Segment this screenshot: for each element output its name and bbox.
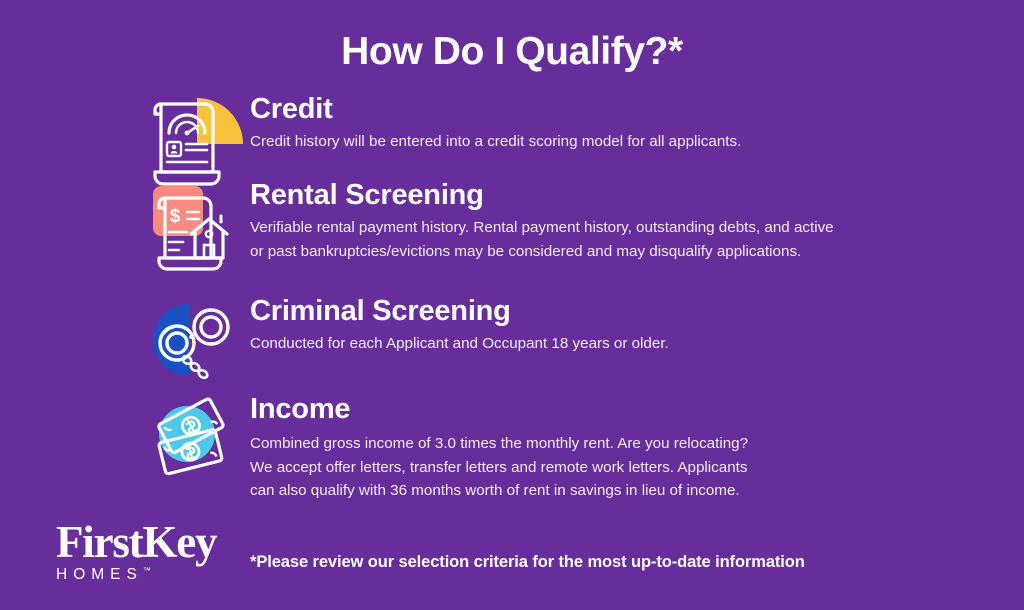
criteria-heading: Criminal Screening bbox=[245, 296, 1024, 326]
criteria-item-rental-screening: $ Rental Screening Verifiable bbox=[145, 178, 1024, 274]
logo-wordmark: FirstKey bbox=[56, 520, 256, 564]
criteria-body: Verifiable rental payment history. Renta… bbox=[245, 216, 892, 263]
footnote-text: *Please review our selection criteria fo… bbox=[250, 553, 805, 572]
criteria-body: Combined gross income of 3.0 times the m… bbox=[245, 432, 810, 503]
criteria-item-income: Income Combined gross income of 3.0 time… bbox=[145, 392, 1024, 512]
logo-subtitle: HOMES™ bbox=[56, 566, 256, 584]
criteria-text: Criminal Screening Conducted for each Ap… bbox=[245, 294, 1024, 356]
credit-report-icon bbox=[145, 92, 245, 188]
body-line: We accept offer letters, transfer letter… bbox=[250, 456, 810, 480]
criteria-item-credit: Credit Credit history will be entered in… bbox=[145, 92, 1024, 188]
page-title: How Do I Qualify?* bbox=[0, 30, 1024, 74]
criteria-text: Credit Credit history will be entered in… bbox=[245, 92, 1024, 154]
criteria-body: Credit history will be entered into a cr… bbox=[245, 130, 890, 154]
handcuffs-icon bbox=[145, 294, 245, 390]
qualification-infographic: How Do I Qualify?* bbox=[0, 0, 1024, 610]
criteria-heading: Income bbox=[245, 394, 1024, 424]
rental-receipt-house-icon: $ bbox=[145, 178, 245, 274]
body-line: Combined gross income of 3.0 times the m… bbox=[250, 432, 810, 456]
firstkey-homes-logo: FirstKey HOMES™ bbox=[56, 520, 256, 584]
criteria-text: Rental Screening Verifiable rental payme… bbox=[245, 178, 1024, 263]
criteria-heading: Rental Screening bbox=[245, 180, 1024, 210]
body-line: Verifiable rental payment history. Renta… bbox=[250, 216, 892, 240]
logo-subtitle-text: HOMES bbox=[56, 566, 143, 583]
body-line: or past bankruptcies/evictions may be co… bbox=[250, 240, 892, 264]
trademark-icon: ™ bbox=[143, 566, 151, 575]
body-line: Credit history will be entered into a cr… bbox=[250, 130, 890, 154]
svg-text:$: $ bbox=[170, 206, 181, 227]
criteria-heading: Credit bbox=[245, 94, 1024, 124]
criteria-text: Income Combined gross income of 3.0 time… bbox=[245, 392, 1024, 503]
criteria-item-criminal-screening: Criminal Screening Conducted for each Ap… bbox=[145, 294, 1024, 390]
criteria-body: Conducted for each Applicant and Occupan… bbox=[245, 332, 890, 356]
banknotes-icon bbox=[145, 392, 245, 512]
body-line: Conducted for each Applicant and Occupan… bbox=[250, 332, 890, 356]
body-line: can also qualify with 36 months worth of… bbox=[250, 479, 810, 503]
